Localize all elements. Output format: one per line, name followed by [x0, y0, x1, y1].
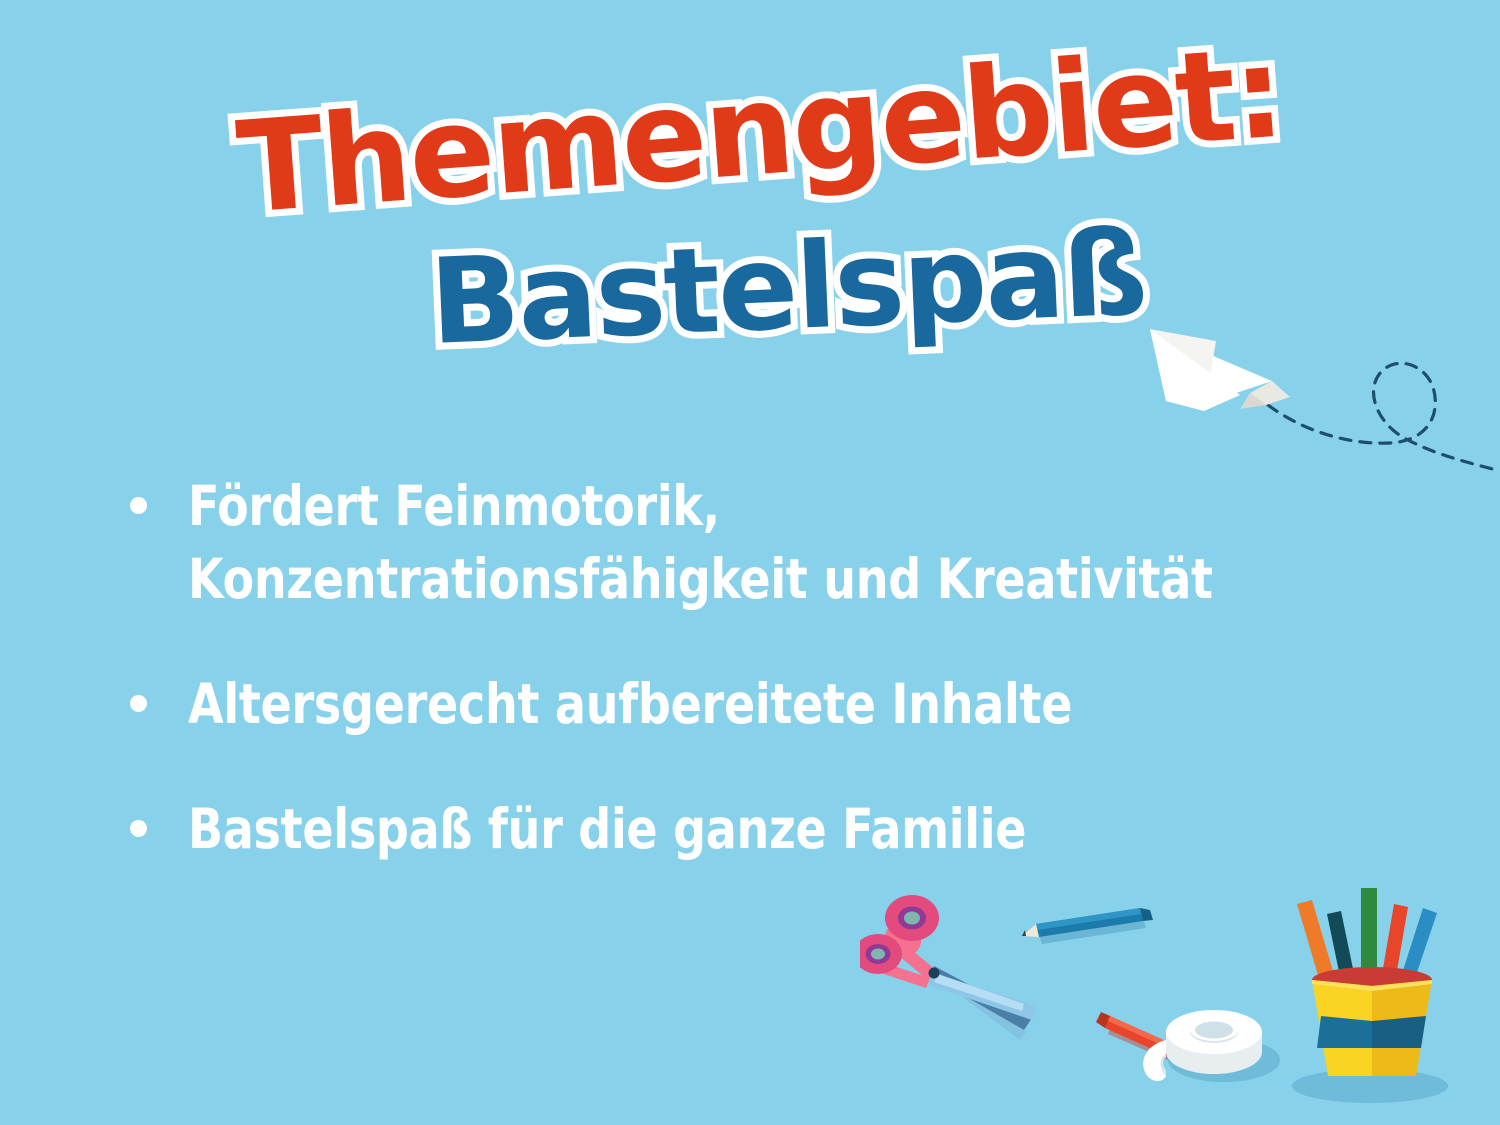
- pencil-cup-icon: [1292, 888, 1448, 1103]
- plane-tail-shadow: [1240, 393, 1266, 409]
- title-line-secondary: Bastelspaß: [427, 203, 1148, 371]
- bullet-dot-icon: [130, 497, 147, 514]
- bullet-label: Fördert Feinmotorik, Konzentrationsfähig…: [188, 470, 1343, 616]
- bullet-list: Fördert Feinmotorik, Konzentrationsfähig…: [130, 470, 1430, 918]
- cup-face-left: [1312, 980, 1372, 1076]
- list-item: Bastelspaß für die ganze Familie: [130, 793, 1430, 866]
- bullet-dot-icon: [130, 695, 147, 712]
- cup-face-right: [1372, 980, 1432, 1076]
- list-item: Fördert Feinmotorik, Konzentrationsfähig…: [130, 470, 1430, 616]
- slide-canvas: Themengebiet: Bastelspaß Fördert Feinmot…: [0, 0, 1500, 1125]
- bullet-label: Bastelspaß für die ganze Familie: [188, 793, 1026, 866]
- flight-trail: [1268, 363, 1500, 471]
- list-item: Altersgerecht aufbereitete Inhalte: [130, 668, 1430, 741]
- cup-interior: [1312, 980, 1432, 1000]
- cup-band-right: [1372, 1016, 1426, 1048]
- tape-roll-icon: [1143, 1010, 1280, 1082]
- bullet-dot-icon: [130, 820, 147, 837]
- red-pencil-icon: [1096, 1012, 1200, 1068]
- pencil-dark-teal: [1327, 911, 1357, 991]
- bullet-label: Altersgerecht aufbereitete Inhalte: [188, 668, 1072, 741]
- page-title: Themengebiet: Bastelspaß: [0, 95, 1300, 395]
- pencil-blue: [1398, 908, 1437, 990]
- cup-band-left: [1317, 1016, 1372, 1048]
